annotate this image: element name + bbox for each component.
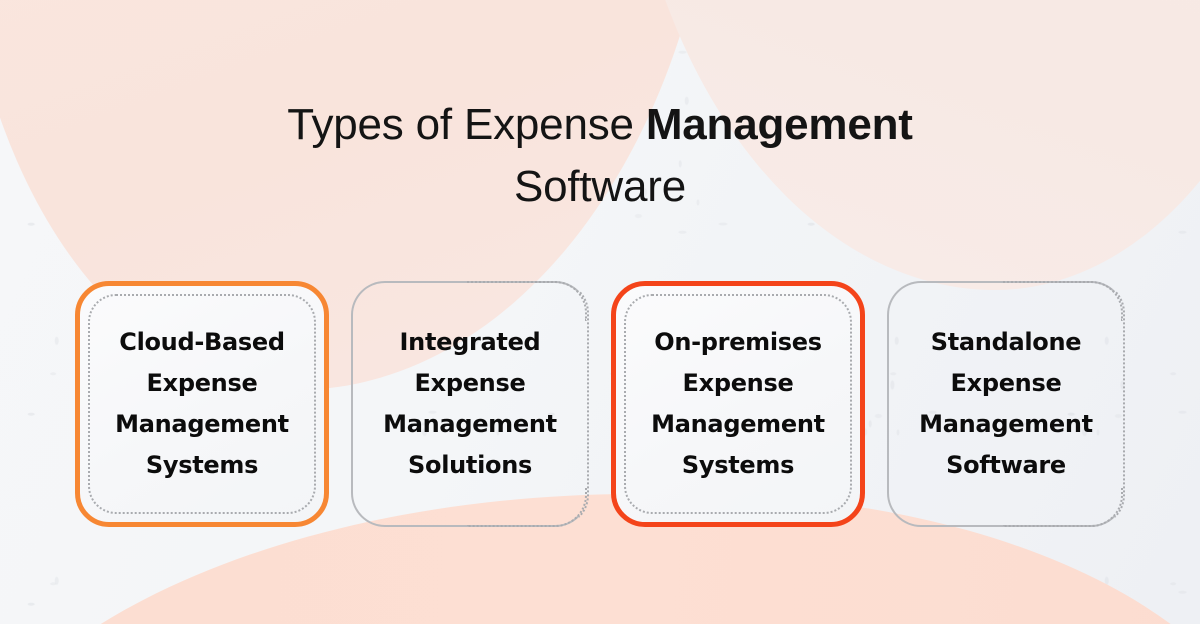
card-label-line: Management bbox=[919, 404, 1093, 445]
card-label-line: Management bbox=[651, 404, 825, 445]
card-label-line: Systems bbox=[682, 445, 794, 486]
card-label-line: Expense bbox=[147, 363, 258, 404]
page-title-emphasis: Management bbox=[646, 100, 913, 149]
card-label-line: Expense bbox=[951, 363, 1062, 404]
card-label-group: Integrated Expense Management Solutions bbox=[351, 281, 589, 527]
page-title-plain: Types of Expense bbox=[287, 100, 646, 149]
card-standalone[interactable]: Standalone Expense Management Software bbox=[887, 281, 1125, 527]
page-title-line-1: Types of Expense Management bbox=[0, 94, 1200, 156]
card-label-group: On-premises Expense Management Systems bbox=[611, 281, 865, 527]
card-label-line: Management bbox=[383, 404, 557, 445]
card-row: Cloud-Based Expense Management Systems I… bbox=[0, 281, 1200, 527]
card-integrated[interactable]: Integrated Expense Management Solutions bbox=[351, 281, 589, 527]
card-label-line: Software bbox=[946, 445, 1066, 486]
page-title-line-2: Software bbox=[0, 156, 1200, 218]
card-label-line: Standalone bbox=[931, 322, 1082, 363]
card-label-line: Management bbox=[115, 404, 289, 445]
card-label-line: Solutions bbox=[408, 445, 532, 486]
page-title: Types of Expense Management Software bbox=[0, 94, 1200, 218]
card-label-group: Cloud-Based Expense Management Systems bbox=[75, 281, 329, 527]
card-label-line: On-premises bbox=[654, 322, 822, 363]
card-label-line: Expense bbox=[683, 363, 794, 404]
card-label-line: Integrated bbox=[400, 322, 541, 363]
card-label-line: Expense bbox=[415, 363, 526, 404]
infographic-canvas: Types of Expense Management Software Clo… bbox=[0, 0, 1200, 624]
card-cloud-based[interactable]: Cloud-Based Expense Management Systems bbox=[75, 281, 329, 527]
card-label-line: Systems bbox=[146, 445, 258, 486]
card-on-premises[interactable]: On-premises Expense Management Systems bbox=[611, 281, 865, 527]
card-label-group: Standalone Expense Management Software bbox=[887, 281, 1125, 527]
card-label-line: Cloud-Based bbox=[119, 322, 285, 363]
